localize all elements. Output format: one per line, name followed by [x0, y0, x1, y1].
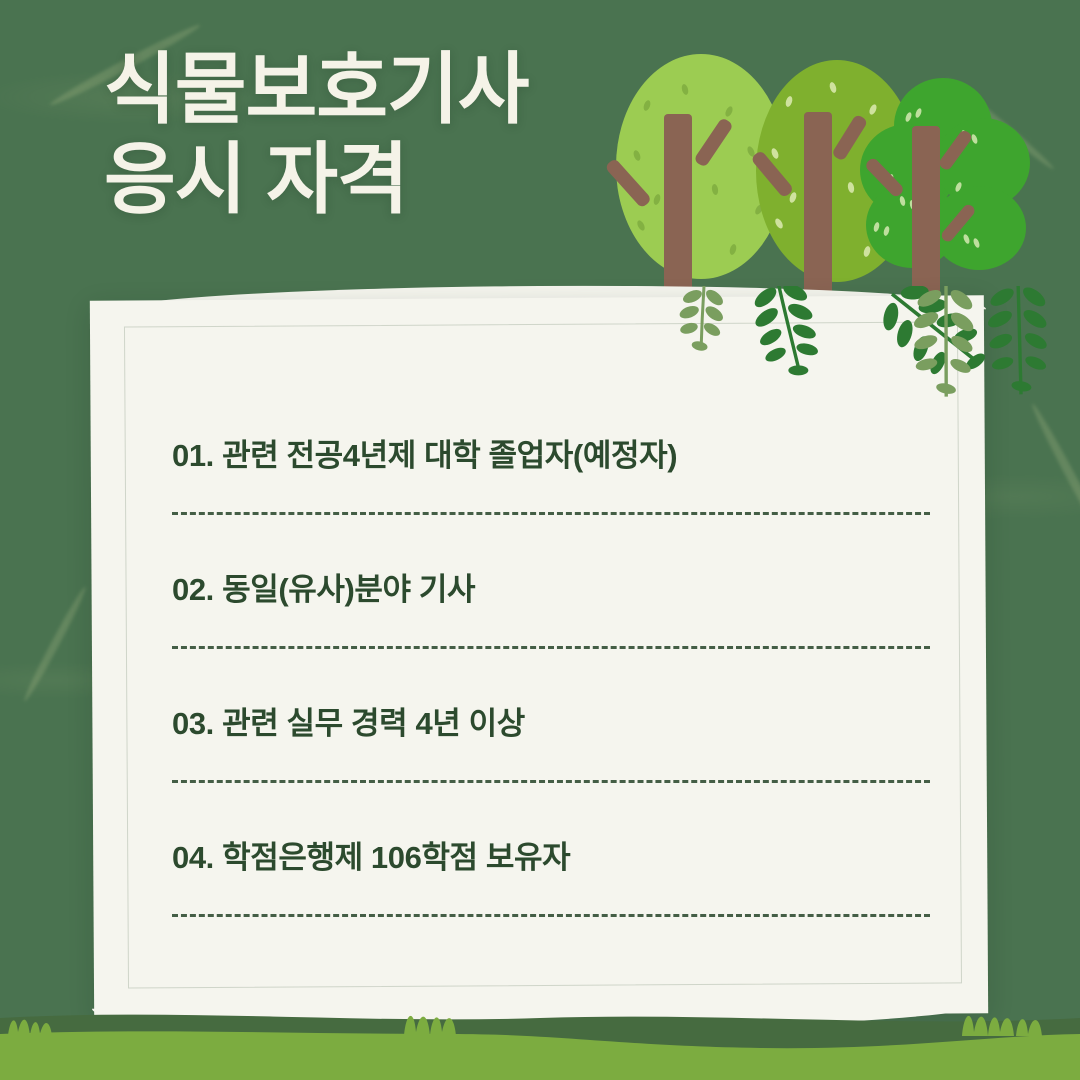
- list-item-text: 04. 학점은행제 106학점 보유자: [172, 832, 570, 877]
- page-title: 식물보호기사 응시 자격: [104, 44, 529, 225]
- fern-branch: [982, 286, 1053, 396]
- list-item[interactable]: 04. 학점은행제 106학점 보유자: [172, 826, 928, 960]
- poster-canvas: 식물보호기사 응시 자격 01. 관련 전공4년제 대학 졸업자(예정자) 02…: [0, 0, 1080, 1080]
- list-item-divider: [172, 780, 930, 783]
- fern-branch: [673, 286, 729, 354]
- requirements-list: 01. 관련 전공4년제 대학 졸업자(예정자) 02. 동일(유사)분야 기사…: [172, 424, 928, 960]
- list-item-divider: [172, 646, 930, 649]
- title-line-2: 응시 자격: [104, 134, 529, 224]
- list-item[interactable]: 02. 동일(유사)분야 기사: [172, 558, 928, 692]
- fern-branch: [749, 286, 823, 381]
- grass-band: [0, 984, 1080, 1080]
- list-item[interactable]: 03. 관련 실무 경력 4년 이상: [172, 692, 928, 826]
- list-item-text: 01. 관련 전공4년제 대학 졸업자(예정자): [172, 430, 677, 475]
- list-item-divider: [172, 914, 930, 917]
- title-line-1: 식물보호기사: [104, 44, 529, 134]
- list-item-divider: [172, 512, 930, 515]
- list-item-text: 03. 관련 실무 경력 4년 이상: [172, 698, 525, 743]
- hanging-fern-branches: [660, 286, 1080, 476]
- list-item-text: 02. 동일(유사)분야 기사: [172, 564, 475, 609]
